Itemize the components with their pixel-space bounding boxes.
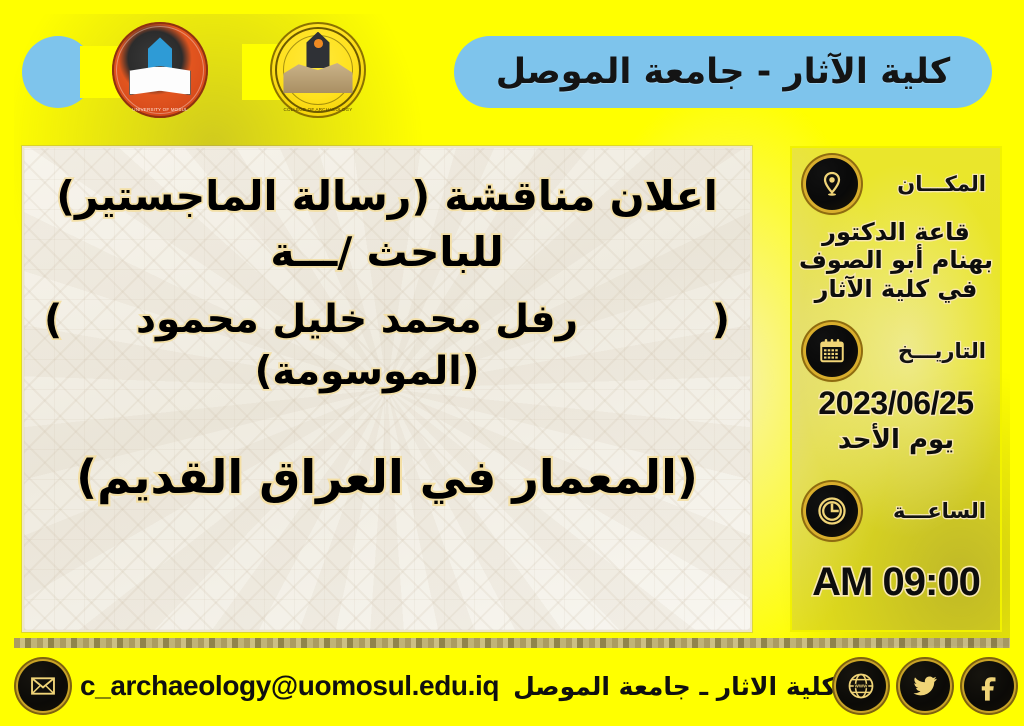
website-www-icon[interactable]: WWW bbox=[836, 661, 886, 711]
location-pin-icon bbox=[806, 158, 858, 210]
thesis-title: (المعمار في العراق القديم) bbox=[36, 450, 738, 504]
announcement-headline-line2: للباحث /ـــة bbox=[36, 228, 738, 276]
svg-text:WWW: WWW bbox=[855, 683, 868, 688]
place-value: قاعة الدكتوربهنام أبو الصوففي كلية الآثا… bbox=[798, 218, 994, 303]
time-label: الساعـــة bbox=[870, 499, 986, 523]
thesis-entitled-label: (الموسومة) bbox=[36, 349, 698, 394]
poster-header: UNIVERSITY OF MOSUL COLLEGE OF ARCHAEOLO… bbox=[14, 14, 1010, 126]
university-of-mosul-logo: UNIVERSITY OF MOSUL bbox=[112, 22, 208, 118]
researcher-row: ( رفل محمد خليل محمود ) bbox=[36, 297, 738, 343]
event-details-panel: المكـــان قاعة الدكتوربهنام أبو الصوففي … bbox=[790, 146, 1002, 632]
poster-footer: c_archaeology@uomosul.edu.iq كلية الاثار… bbox=[0, 646, 1024, 726]
crest-open-book bbox=[129, 66, 190, 95]
time-row: الساعـــة bbox=[798, 485, 994, 537]
date-row: التاريـــخ bbox=[798, 325, 994, 377]
university-of-mosul-logo-caption: UNIVERSITY OF MOSUL bbox=[112, 107, 208, 112]
announcement-main-panel: اعلان مناقشة (رسالة الماجستير) للباحث /ـ… bbox=[22, 146, 752, 632]
researcher-name: رفل محمد خليل محمود bbox=[62, 297, 651, 342]
researcher-paren-close: ) bbox=[44, 297, 62, 343]
place-label: المكـــان bbox=[870, 172, 986, 196]
decorative-strip bbox=[14, 638, 1010, 648]
contact-email[interactable]: c_archaeology@uomosul.edu.iq bbox=[80, 670, 499, 702]
footer-affiliation: كلية الاثار ـ جامعة الموصل bbox=[513, 672, 836, 701]
header-banner: كلية الآثار - جامعة الموصل bbox=[454, 36, 992, 108]
announcement-headline-line1: اعلان مناقشة (رسالة الماجستير) bbox=[36, 172, 738, 220]
date-value: 2023/06/25 bbox=[798, 385, 994, 423]
place-row: المكـــان bbox=[798, 158, 994, 210]
date-label: التاريـــخ bbox=[870, 339, 986, 363]
college-of-archaeology-logo-caption: COLLEGE OF ARCHAEOLOGY bbox=[270, 107, 366, 112]
clock-icon bbox=[806, 485, 858, 537]
facebook-icon[interactable] bbox=[964, 661, 1014, 711]
twitter-icon[interactable] bbox=[900, 661, 950, 711]
social-links: WWW bbox=[836, 661, 1014, 711]
header-banner-title: كلية الآثار - جامعة الموصل bbox=[496, 55, 951, 90]
announcement-poster: UNIVERSITY OF MOSUL COLLEGE OF ARCHAEOLO… bbox=[0, 0, 1024, 726]
college-of-archaeology-logo: COLLEGE OF ARCHAEOLOGY bbox=[270, 22, 366, 118]
date-day: يوم الأحد bbox=[798, 425, 994, 456]
researcher-paren-open: ( bbox=[712, 297, 730, 343]
spacer bbox=[798, 303, 994, 325]
time-value: 09:00 AM bbox=[798, 559, 994, 606]
spacer bbox=[798, 455, 994, 485]
crest-sun-dot bbox=[314, 39, 323, 48]
envelope-icon bbox=[18, 661, 68, 711]
calendar-icon bbox=[806, 325, 858, 377]
